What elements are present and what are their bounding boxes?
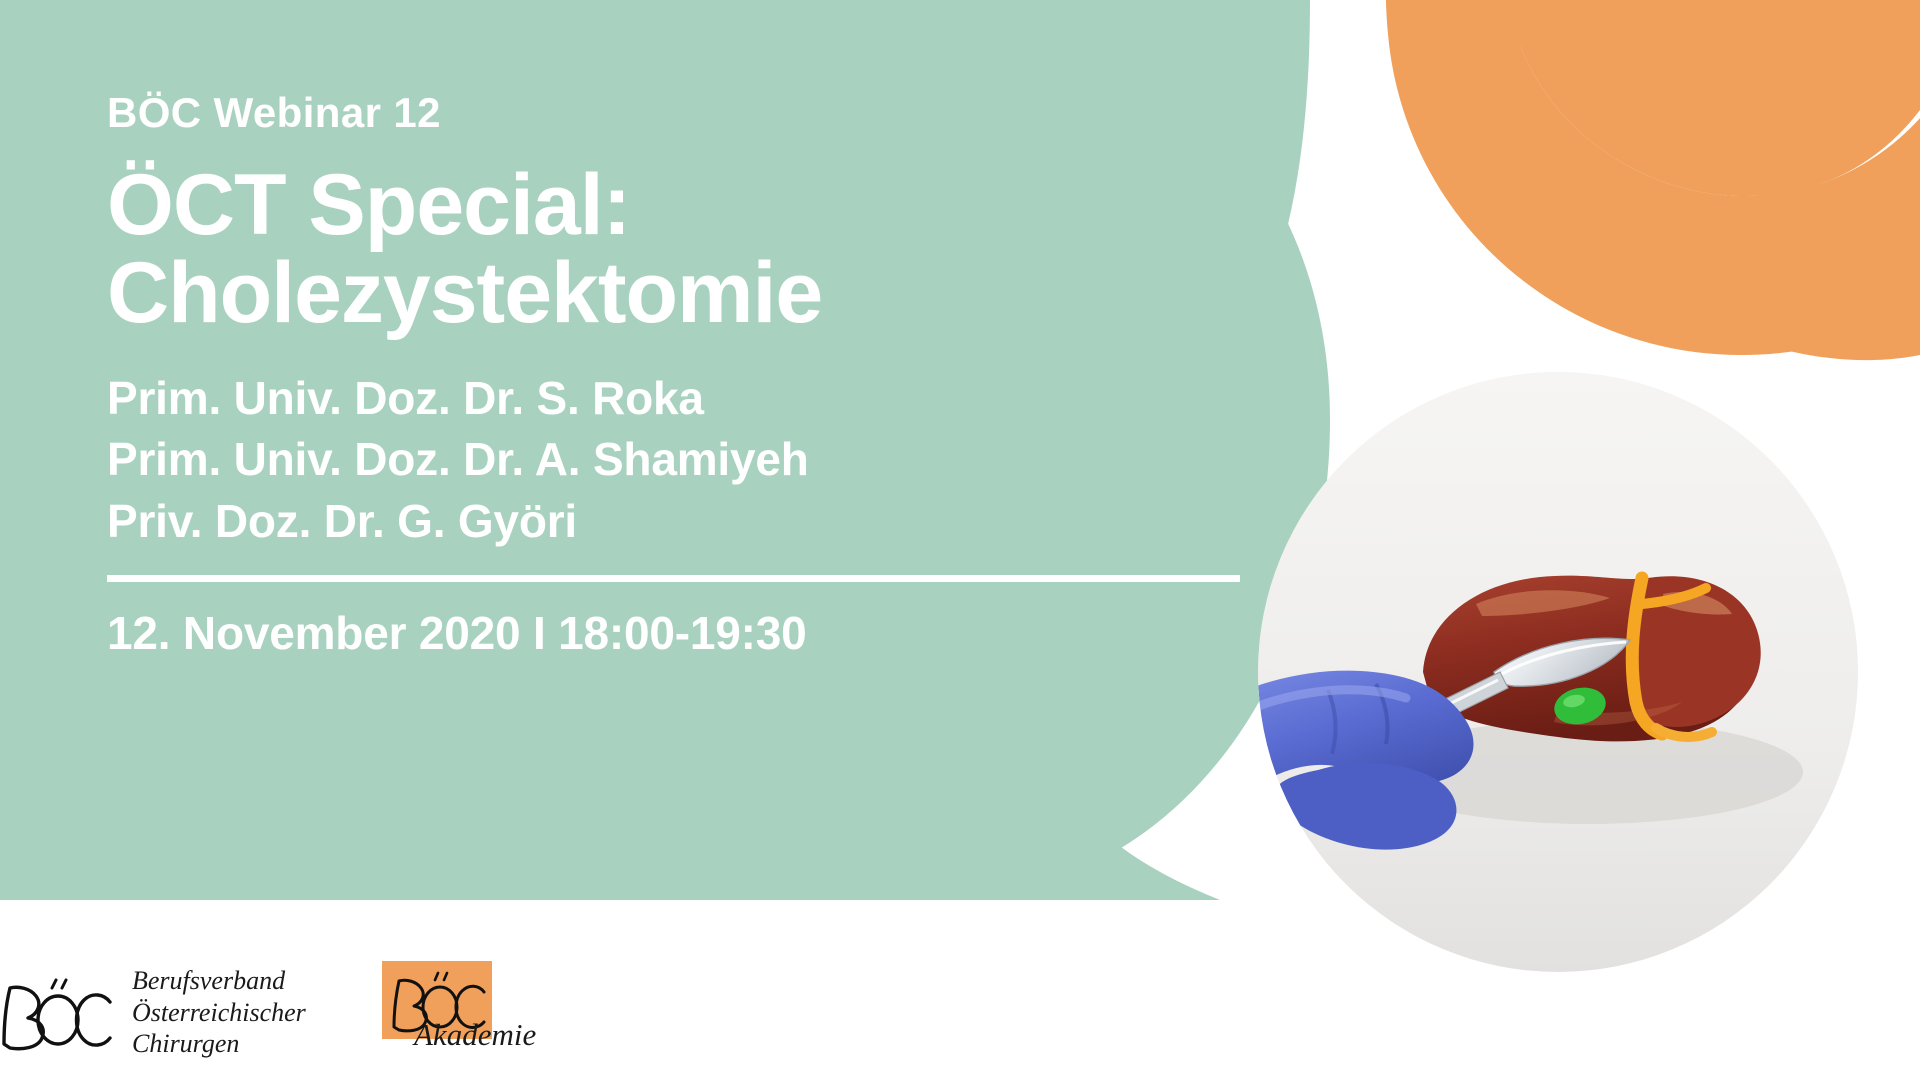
title-line-1: ÖCT Special:: [107, 162, 1167, 250]
speaker-item: Prim. Univ. Doz. Dr. S. Roka: [107, 368, 1167, 430]
speaker-list: Prim. Univ. Doz. Dr. S. Roka Prim. Univ.…: [107, 368, 1167, 553]
boec-association-logo: Berufsverband Österreichischer Chirurgen: [0, 965, 306, 1060]
boec-wordmark-line-1: Berufsverband: [132, 965, 306, 997]
poster-canvas: BÖC Webinar 12 ÖCT Special: Cholezystekt…: [0, 0, 1920, 1080]
surgery-photo-illustration: [1258, 372, 1858, 972]
poster-content: BÖC Webinar 12 ÖCT Special: Cholezystekt…: [107, 90, 1167, 658]
boec-wordmark-line-3: Chirurgen: [132, 1028, 306, 1060]
schedule-datetime: 12. November 2020 I 18:00-19:30: [107, 608, 1167, 659]
footer-logos: Berufsverband Österreichischer Chirurgen…: [0, 955, 1920, 1080]
page-title: ÖCT Special: Cholezystektomie: [107, 162, 1167, 337]
title-line-2: Cholezystektomie: [107, 250, 1167, 338]
speaker-item: Priv. Doz. Dr. G. Györi: [107, 491, 1167, 553]
boec-association-wordmark: Berufsverband Österreichischer Chirurgen: [132, 965, 306, 1060]
boec-akademie-logo: Akademie: [382, 961, 592, 1065]
speaker-item: Prim. Univ. Doz. Dr. A. Shamiyeh: [107, 429, 1167, 491]
boec-monogram-icon: [0, 970, 120, 1056]
boec-wordmark-line-2: Österreichischer: [132, 997, 306, 1029]
surgery-photo: [1258, 372, 1858, 972]
divider-rule: [107, 575, 1240, 582]
webinar-kicker: BÖC Webinar 12: [107, 90, 1167, 136]
akademie-wordmark: Akademie: [414, 1017, 536, 1053]
